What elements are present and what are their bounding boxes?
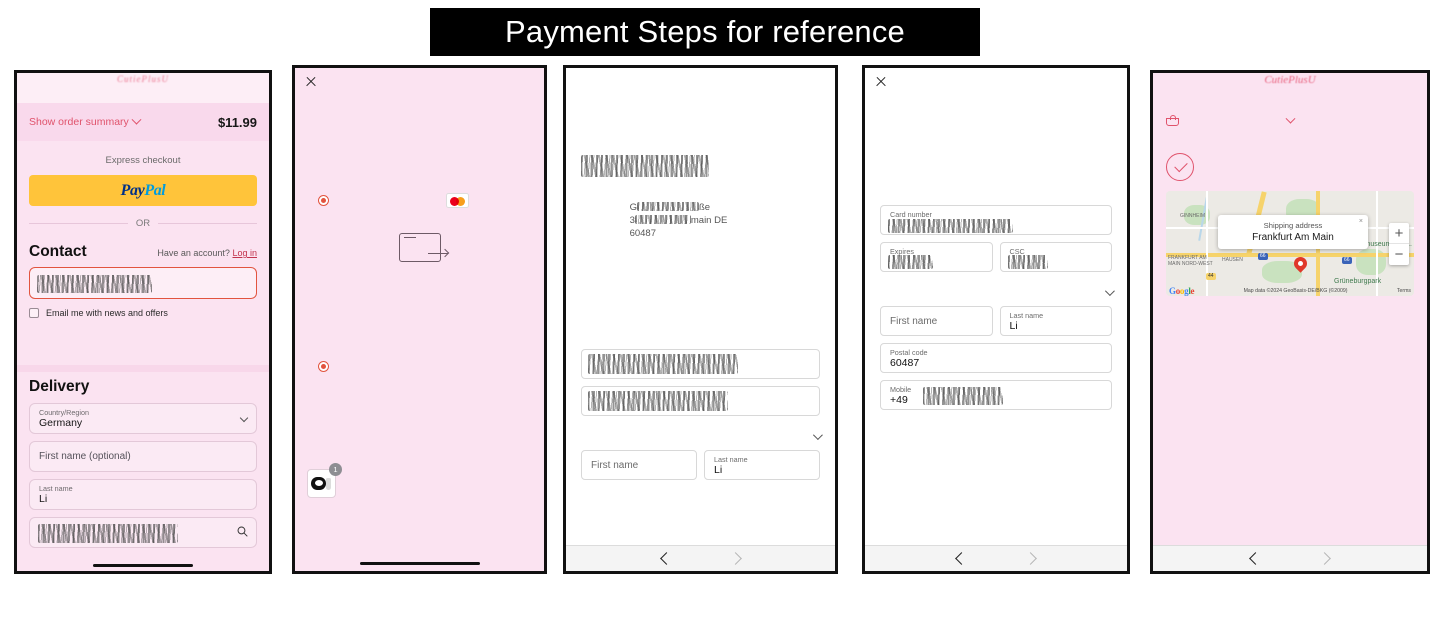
mobile-field[interactable]: Mobile +49 [880,380,1112,410]
screenshot-canvas: Payment Steps for reference CutiePlusU S… [0,0,1445,636]
google-logo: Google [1169,286,1194,296]
card-number-field[interactable]: Card number [880,205,1112,235]
last-name-value: Li [39,493,247,506]
back-chevron-icon[interactable] [955,552,968,565]
billing-last-name-field[interactable]: Last name Li [1000,306,1113,336]
close-icon[interactable] [305,76,317,88]
close-icon[interactable]: × [1359,218,1363,225]
back-chevron-icon[interactable] [660,552,673,565]
redacted-email-value [581,155,709,177]
or-label: OR [136,218,150,229]
item-quantity-badge: 1 [329,463,342,476]
home-indicator [360,562,480,565]
map-zoom-controls[interactable]: + − [1389,223,1409,265]
delivery-heading: Delivery [29,378,257,396]
map-terms-link[interactable]: Terms [1397,288,1411,294]
map-attribution-bar: Google Map data ©2024 GeoBasis-DE/BKG (©… [1166,285,1414,296]
phone-screen-2-payment: Checkout - CutiePlusU ••• Payment All tr… [292,65,547,574]
forward-chevron-icon[interactable] [1024,552,1037,565]
address-search-field[interactable] [29,517,257,548]
map-label: HAUSEN [1222,257,1243,263]
map-label: FRANKFURT AM MAIN NORD-WEST [1168,255,1220,267]
map-route-shield: 66 [1342,257,1352,264]
or-divider: OR [29,218,257,229]
order-total: $11.99 [218,115,257,130]
card-expiry-csc-field[interactable] [581,386,820,416]
ship-line2-end: main DE [691,215,727,226]
billing-last-name-value: Li [714,464,810,477]
ship-to-line-1: Gße [630,201,765,214]
tooltip-value: Frankfurt Am Main [1226,232,1360,243]
map-attribution-text: Map data ©2024 GeoBasis-DE/BKG (©2009) [1244,288,1348,294]
home-indicator [93,564,193,568]
phone-screen-5-thank-you: CutiePlusU Show order summary $11.99 Con… [1150,70,1430,574]
forward-chevron-icon[interactable] [1318,552,1331,565]
ship-to-line-3: 60487 [630,227,765,240]
csc-field[interactable]: CSC [1000,242,1113,272]
tooltip-title: Shipping address [1226,221,1360,230]
billing-first-name-placeholder: First name [890,311,983,332]
card-number-field[interactable] [581,349,820,379]
redacted-address-value [38,524,178,543]
country-region-value: Germany [39,417,247,430]
paypal-express-button[interactable]: PayPal [29,175,257,206]
browser-redirect-icon [399,233,441,262]
credit-card-icon [938,157,953,168]
country-region-select[interactable]: Country/Region Germany [29,403,257,434]
paypal-pay-text: Pay [121,182,145,199]
phone-screen-1-contact: CutiePlusU Show order summary $11.99 Exp… [14,70,272,574]
cart-icon [1166,115,1179,127]
redacted-expiry-csc [588,391,728,411]
map-route-shield: 66 [1258,253,1268,260]
section-divider [17,365,269,372]
billing-last-name-field[interactable]: Last name Li [704,450,820,480]
ship-line3: 60487 [630,228,656,239]
forward-chevron-icon[interactable] [729,552,742,565]
screen5-background [1153,73,1427,571]
ship-line1-start: G [630,202,637,213]
screen5-navbar [1153,545,1427,571]
pacifier-thumbnail: 1 [307,469,336,498]
redacted-email-value [37,275,152,293]
contact-header: Contact Have an account? Log in [29,243,257,261]
newsletter-checkbox-row[interactable]: Email me with news and offers [29,308,257,318]
login-link[interactable]: Log in [232,248,257,258]
mastercard-icon [446,193,469,208]
email-field[interactable] [29,267,257,299]
page-title: Payment Steps for reference [505,14,905,50]
account-prompt: Have an account? Log in [157,248,257,258]
phone-screen-4-paypal-card-form: PayPal Checkout Integration ••• Payment … [862,65,1130,574]
order-summary-bar[interactable]: Show order summary $11.99 [17,103,269,141]
last-name-field[interactable]: Last name Li [29,479,257,510]
redacted-csc [1008,255,1048,269]
phone-screen-3-paypal-review: CutiePlusU You will receive proof of pay… [563,65,838,574]
show-order-summary-label: Show order summary [29,116,129,128]
map-label: GINNHEIM [1180,213,1205,219]
search-icon[interactable] [237,526,248,537]
postal-code-label: Postal code [890,348,1102,357]
close-icon[interactable] [875,76,887,88]
delivery-section: Delivery Country/Region Germany First na… [17,378,269,548]
map-route-shield: 44 [1206,273,1216,280]
screen4-navbar [865,545,1127,571]
billing-first-name-field[interactable]: First name [880,306,993,336]
shipping-address-tooltip: × Shipping address Frankfurt Am Main [1218,215,1368,249]
map-label: Grüneburgpark [1334,278,1381,285]
billing-first-name-field[interactable]: First name [581,450,697,480]
express-checkout-label: Express checkout [29,155,257,166]
newsletter-checkbox[interactable] [29,308,39,318]
postal-code-value: 60487 [890,357,1102,370]
newsletter-label: Email me with news and offers [46,308,168,318]
country-region-label: Country/Region [39,408,247,417]
paypal-wordmark: PayPal [121,182,166,200]
screen3-background [566,68,835,571]
billing-last-name-label: Last name [1010,311,1103,320]
show-order-summary-toggle[interactable]: Show order summary [29,116,140,128]
last-name-label: Last name [39,484,247,493]
card-number-label: Card number [890,210,1102,219]
postal-code-field[interactable]: Postal code 60487 [880,343,1112,373]
expires-field[interactable]: Expires [880,242,993,272]
first-name-field[interactable]: First name (optional) [29,441,257,472]
back-chevron-icon[interactable] [1249,552,1262,565]
check-circle-icon [1166,153,1194,181]
radio-credit-card[interactable] [318,195,329,206]
account-prompt-text: Have an account? [157,248,230,258]
redacted-card-number [588,354,738,374]
contact-heading: Contact [29,243,87,261]
store-logo: CutiePlusU [117,74,169,84]
ship-to-address: Gße 3main DE 60487 [630,201,765,240]
screen1-logo-bar: CutiePlusU [17,73,269,103]
redacted-expiry [888,255,933,269]
credit-card-icon [643,301,658,312]
ship-to-line-2: 3main DE [630,214,765,227]
chevron-down-icon [131,114,141,124]
billing-first-name-placeholder: First name [591,455,687,476]
first-name-placeholder: First name (optional) [39,446,247,468]
paypal-pal-text: Pal [144,182,165,199]
redacted-card-number [888,219,1013,233]
redacted-mobile-number [923,387,1003,405]
billing-last-name-label: Last name [714,455,810,464]
zoom-in-button[interactable]: + [1389,223,1409,244]
zoom-out-button[interactable]: − [1389,244,1409,265]
screen3-navbar [566,545,835,571]
page-title-banner: Payment Steps for reference [430,8,980,56]
ship-line1-end: ße [699,202,710,213]
shipping-map[interactable]: GINNHEIM FRANKFURT AM MAIN NORD-WEST HAU… [1166,191,1414,296]
store-logo: CutiePlusU [1264,75,1315,86]
radio-same-address[interactable] [318,361,329,372]
billing-last-name-value: Li [1010,320,1103,333]
